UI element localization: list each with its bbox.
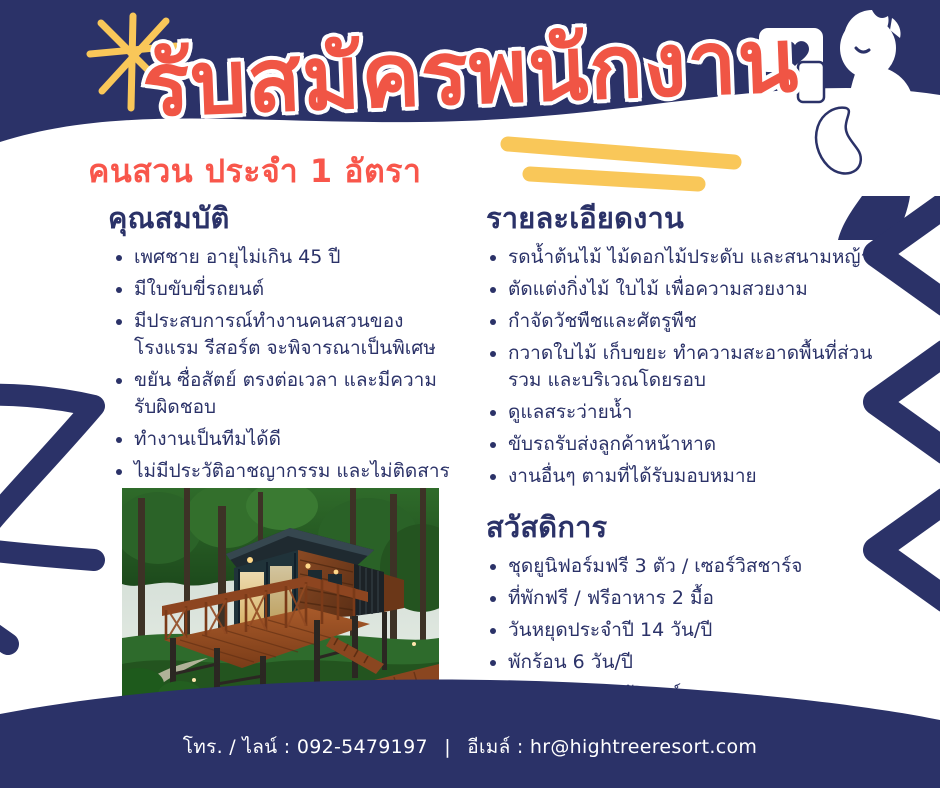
list-item: ที่พักฟรี / ฟรีอาหาร 2 มื้อ [508,585,902,612]
list-item: งานอื่นๆ ตามที่ได้รับมอบหมาย [508,463,902,490]
list-item: วันหยุดประจำปี 14 วัน/ปี [508,617,902,644]
footer-navy-band [0,678,940,788]
spacer [482,495,902,509]
heading-qualifications: คุณสมบัติ [108,200,458,236]
list-item: รดน้ำต้นไม้ ไม้ดอกไม้ประดับ และสนามหญ้า [508,244,902,271]
yellow-underline-strokes [498,132,748,194]
list-item: พักร้อน 6 วัน/ปี [508,649,902,676]
zigzag-scribble-decoration [0,372,110,672]
sparkle-star-icon [78,8,188,118]
list-job-details: รดน้ำต้นไม้ ไม้ดอกไม้ประดับ และสนามหญ้า … [482,244,902,490]
poster-subtitle: คนสวน ประจำ 1 อัตรา [88,146,421,197]
list-item: ชุดยูนิฟอร์มฟรี 3 ตัว / เซอร์วิสชาร์จ [508,553,902,580]
list-item: ดูแลสระว่ายน้ำ [508,399,902,426]
treehouse-villa-photo [122,488,439,701]
list-item: ตัดแต่งกิ่งไม้ ใบไม้ เพื่อความสวยงาม [508,276,902,303]
heading-benefits: สวัสดิการ [486,509,902,545]
list-item: ขับรถรับส่งลูกค้าหน้าหาด [508,431,902,458]
list-item: มีใบขับขี่รถยนต์ [134,276,458,303]
list-item: ทำงานเป็นทีมได้ดี [134,426,458,453]
list-item: มีประสบการณ์ทำงานคนสวนของโรงแรม รีสอร์ต … [134,308,458,362]
list-qualifications: เพศชาย อายุไม่เกิน 45 ปี มีใบขับขี่รถยนต… [108,244,458,512]
list-item: เพศชาย อายุไม่เกิน 45 ปี [134,244,458,271]
list-item: กวาดใบไม้ เก็บขยะ ทำความสะอาดพื้นที่ส่วน… [508,340,902,394]
heading-job-details: รายละเอียดงาน [486,200,902,236]
list-item: ขยัน ซื่อสัตย์ ตรงต่อเวลา และมีความรับผิ… [134,367,458,421]
column-qualifications: คุณสมบัติ เพศชาย อายุไม่เกิน 45 ปี มีใบข… [108,200,458,517]
list-item: กำจัดวัชพืชและศัตรูพืช [508,308,902,335]
recruitment-poster: รับสมัครพนักงาน คนสวน ประจำ 1 อัตรา คุ [0,0,940,788]
